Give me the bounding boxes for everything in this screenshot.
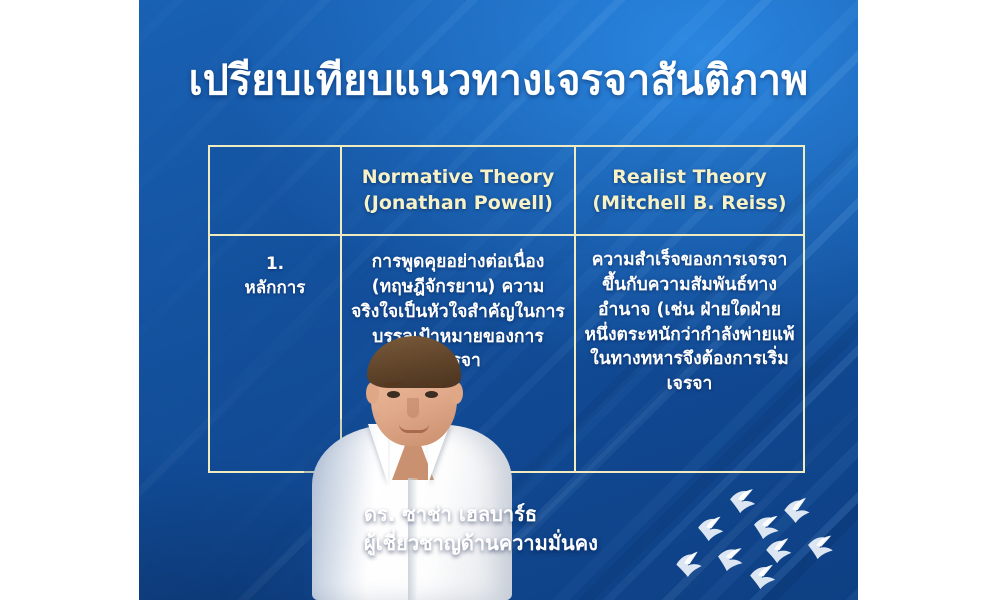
speaker-caption: ดร. ซาช่า เฮลบาร์ธ ผู้เชี่ยวชาญด้านความม… — [364, 500, 598, 558]
slide-root: เปรียบเทียบแนวทางเจรจาสันติภาพ Normative… — [0, 0, 1000, 600]
speaker-role: ผู้เชี่ยวชาญด้านความมั่นคง — [364, 529, 598, 558]
portrait-eye-left — [387, 391, 400, 398]
row-number: 1. — [218, 252, 332, 276]
dove-flock — [662, 480, 852, 598]
table-header-row: Normative Theory (Jonathan Powell) Reali… — [210, 147, 803, 234]
dove-icon — [749, 565, 776, 590]
dove-icon — [718, 548, 743, 571]
letterbox-right — [858, 0, 1000, 600]
header-realist-line2: (Mitchell B. Reiss) — [584, 191, 795, 217]
header-cell-normative: Normative Theory (Jonathan Powell) — [340, 147, 574, 234]
portrait-eye-right — [425, 391, 438, 398]
portrait-hair — [367, 336, 461, 388]
dove-icon — [729, 489, 756, 514]
dove-icon — [783, 498, 812, 525]
header-normative-line1: Normative Theory — [350, 165, 566, 191]
page-title: เปรียบเทียบแนวทางเจรจาสันติภาพ — [139, 58, 858, 103]
speaker-name: ดร. ซาช่า เฮลบาร์ธ — [364, 500, 598, 529]
header-normative-line2: (Jonathan Powell) — [350, 191, 566, 217]
header-cell-realist: Realist Theory (Mitchell B. Reiss) — [574, 147, 803, 234]
dove-flock-svg — [662, 480, 852, 598]
cell-realist-text: ความสำเร็จของการเจรจาขึ้นกับความสัมพันธ์… — [584, 248, 795, 397]
dove-icon — [765, 538, 793, 565]
portrait-nose — [407, 398, 419, 418]
dove-icon — [697, 517, 724, 543]
dove-icon — [754, 516, 779, 540]
cell-realist-principle: ความสำเร็จของการเจรจาขึ้นกับความสัมพันธ์… — [574, 236, 803, 471]
dove-icon — [807, 536, 833, 560]
row-label: หลักการ — [218, 276, 332, 300]
dove-icon — [675, 552, 704, 579]
header-cell-blank — [210, 147, 340, 234]
header-realist-line1: Realist Theory — [584, 165, 795, 191]
speaker-portrait — [304, 320, 519, 600]
letterbox-left — [0, 0, 139, 600]
portrait-mouth — [399, 424, 429, 433]
slide-canvas: เปรียบเทียบแนวทางเจรจาสันติภาพ Normative… — [139, 0, 858, 600]
